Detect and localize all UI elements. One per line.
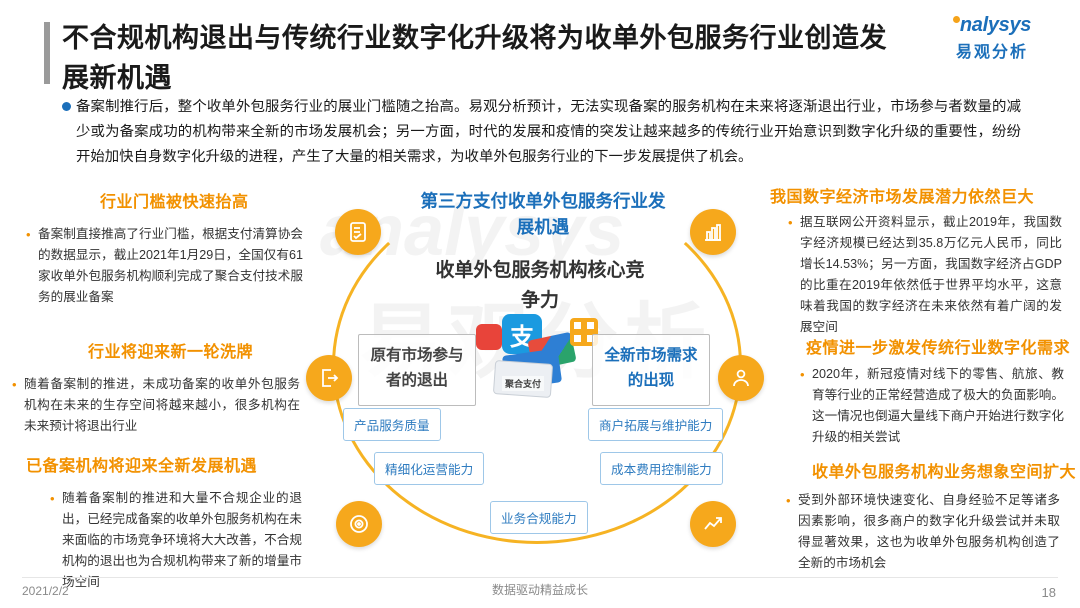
summary-bullet-icon (62, 102, 71, 111)
payment-illustration: 支 聚合支付 (474, 312, 610, 404)
tag-product-service-quality: 产品服务质量 (343, 408, 441, 441)
title-accent-bar (44, 22, 50, 84)
new-demand-box: 全新市场需求的出现 (592, 334, 710, 406)
logo-wordmark: nalysys (930, 14, 1054, 37)
footer-slogan: 数据驱动精益成长 (0, 581, 1080, 598)
brand-logo: nalysys 易观分析 (930, 14, 1054, 62)
right-section-1-body: 据互联网公开资料显示，截止2019年，我国数字经济规模已经达到35.8万亿元人民… (800, 212, 1062, 338)
footer-page-number: 18 (1042, 585, 1056, 600)
slide: 不合规机构退出与传统行业数字化升级将为收单外包服务行业创造发展新机遇 nalys… (0, 0, 1080, 608)
right-section-2-heading: 疫情进一步激发传统行业数字化需求 (806, 334, 1070, 358)
left-section-3-heading: 已备案机构将迎来全新发展机遇 (26, 452, 257, 476)
bar-chart-icon (690, 209, 736, 255)
right-section-3-bullet-icon: • (786, 490, 791, 511)
right-section-3-heading: 收单外包服务机构业务想象空间扩大 (812, 458, 1076, 482)
aggregate-pay-label: 聚合支付 (502, 376, 544, 391)
center-core-label: 收单外包服务机构核心竞争力 (430, 256, 650, 316)
right-section-2-bullet-icon: • (800, 364, 805, 385)
tag-business-compliance: 业务合规能力 (490, 501, 588, 534)
left-section-1-heading: 行业门槛被快速抬高 (100, 188, 249, 212)
tag-refined-operation: 精细化运营能力 (374, 452, 484, 485)
wechat-pay-icon (476, 324, 502, 350)
tag-merchant-expansion: 商户拓展与维护能力 (588, 408, 723, 441)
logo-dot-icon (953, 16, 960, 23)
left-section-2-bullet-icon: • (12, 374, 17, 395)
page-title: 不合规机构退出与传统行业数字化升级将为收单外包服务行业创造发展新机遇 (62, 18, 902, 98)
right-section-1-heading: 我国数字经济市场发展潜力依然巨大 (770, 183, 1034, 207)
person-service-icon (718, 355, 764, 401)
logo-subtitle: 易观分析 (930, 38, 1054, 62)
target-icon (336, 501, 382, 547)
right-section-2-body: 2020年，新冠疫情对线下的零售、航旅、教育等行业的正常经营造成了极大的负面影响… (812, 364, 1064, 448)
right-section-3-body: 受到外部环境快速变化、自身经验不足等诸多因素影响，很多商户的数字化升级尝试并未取… (798, 490, 1060, 574)
footer-divider (22, 577, 1058, 578)
center-title: 第三方支付收单外包服务行业发展机遇 (418, 188, 668, 240)
summary-paragraph: 备案制推行后，整个收单外包服务行业的展业门槛随之抬高。易观分析预计，无法实现备案… (76, 95, 1021, 170)
growth-chart-icon (690, 501, 736, 547)
exit-arrow-icon (306, 355, 352, 401)
left-section-3-bullet-icon: • (50, 488, 55, 509)
right-section-1-bullet-icon: • (788, 212, 793, 233)
left-section-1-bullet-icon: • (26, 224, 31, 245)
left-section-2-body: 随着备案制的推进，未成功备案的收单外包服务机构在未来的生存空间将越来越小，很多机… (24, 374, 300, 437)
left-section-2-heading: 行业将迎来新一轮洗牌 (88, 338, 253, 362)
exit-box: 原有市场参与者的退出 (358, 334, 476, 406)
left-section-1-body: 备案制直接推高了行业门槛，根据支付清算协会的数据显示，截止2021年1月29日，… (38, 224, 303, 308)
document-check-icon (335, 209, 381, 255)
tag-cost-control: 成本费用控制能力 (600, 452, 723, 485)
logo-wordmark-text: nalysys (960, 14, 1031, 36)
